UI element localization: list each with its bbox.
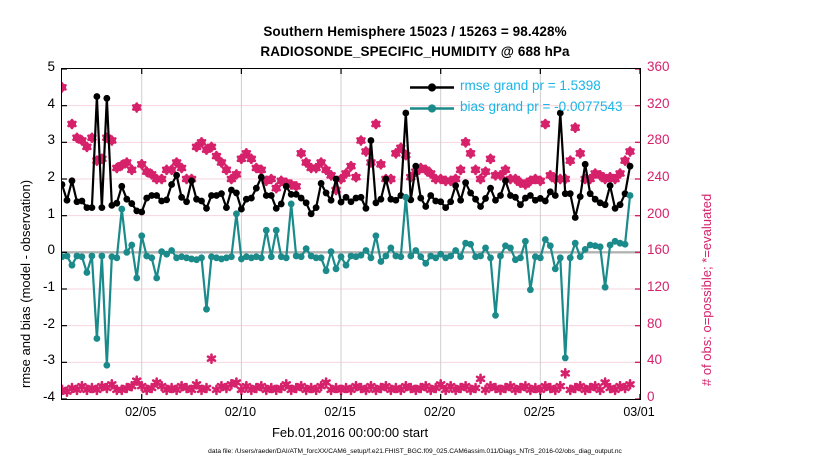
x-tick-3: 02/20 bbox=[405, 405, 475, 419]
x-axis-label: Feb.01,2016 00:00:00 start bbox=[0, 425, 700, 440]
x-tick-4: 02/25 bbox=[504, 405, 574, 419]
y-tick-right-2: 280 bbox=[647, 132, 693, 147]
y-tick-right-9: 0 bbox=[647, 389, 693, 404]
legend-label-rmse: rmse grand pr = 1.5398 bbox=[460, 78, 601, 93]
chart-legend: rmse grand pr = 1.5398 bias grand pr = -… bbox=[408, 77, 660, 119]
x-tick-1: 02/10 bbox=[205, 405, 275, 419]
title-line-1: Southern Hemisphere 15023 / 15263 = 98.4… bbox=[0, 22, 830, 42]
y-tick-right-8: 40 bbox=[647, 352, 693, 367]
legend-swatch-bias bbox=[408, 98, 456, 119]
x-tick-2: 02/15 bbox=[305, 405, 375, 419]
title-line-2: RADIOSONDE_SPECIFIC_HUMIDITY @ 688 hPa bbox=[0, 42, 830, 62]
y-tick-right-7: 80 bbox=[647, 316, 693, 331]
legend-item-rmse[interactable]: rmse grand pr = 1.5398 bbox=[408, 77, 660, 98]
y-tick-right-4: 200 bbox=[647, 206, 693, 221]
y-tick-right-3: 240 bbox=[647, 169, 693, 184]
x-tick-5: 03/01 bbox=[604, 405, 674, 419]
data-file-footer: data file: /Users/raeder/DAI/ATM_forcXX/… bbox=[0, 448, 830, 455]
legend-label-bias: bias grand pr = -0.0077543 bbox=[460, 99, 623, 114]
y-axis-left-label: rmse and bias (model - observation) bbox=[18, 180, 33, 388]
chart-title: Southern Hemisphere 15023 / 15263 = 98.4… bbox=[0, 22, 830, 62]
y-tick-left-9: -4 bbox=[15, 389, 55, 404]
legend-item-bias[interactable]: bias grand pr = -0.0077543 bbox=[408, 98, 660, 119]
y-tick-right-0: 360 bbox=[647, 59, 693, 74]
y-tick-right-6: 120 bbox=[647, 279, 693, 294]
y-tick-right-5: 160 bbox=[647, 242, 693, 257]
y-tick-left-1: 4 bbox=[15, 96, 55, 111]
y-tick-left-2: 3 bbox=[15, 132, 55, 147]
chart-page: Southern Hemisphere 15023 / 15263 = 98.4… bbox=[0, 0, 830, 470]
series-bias bbox=[62, 192, 633, 369]
x-tick-0: 02/05 bbox=[106, 405, 176, 419]
legend-swatch-rmse bbox=[408, 77, 456, 98]
y-axis-right-label: # of obs: o=possible; *=evaluated bbox=[699, 194, 714, 386]
y-tick-left-0: 5 bbox=[15, 59, 55, 74]
